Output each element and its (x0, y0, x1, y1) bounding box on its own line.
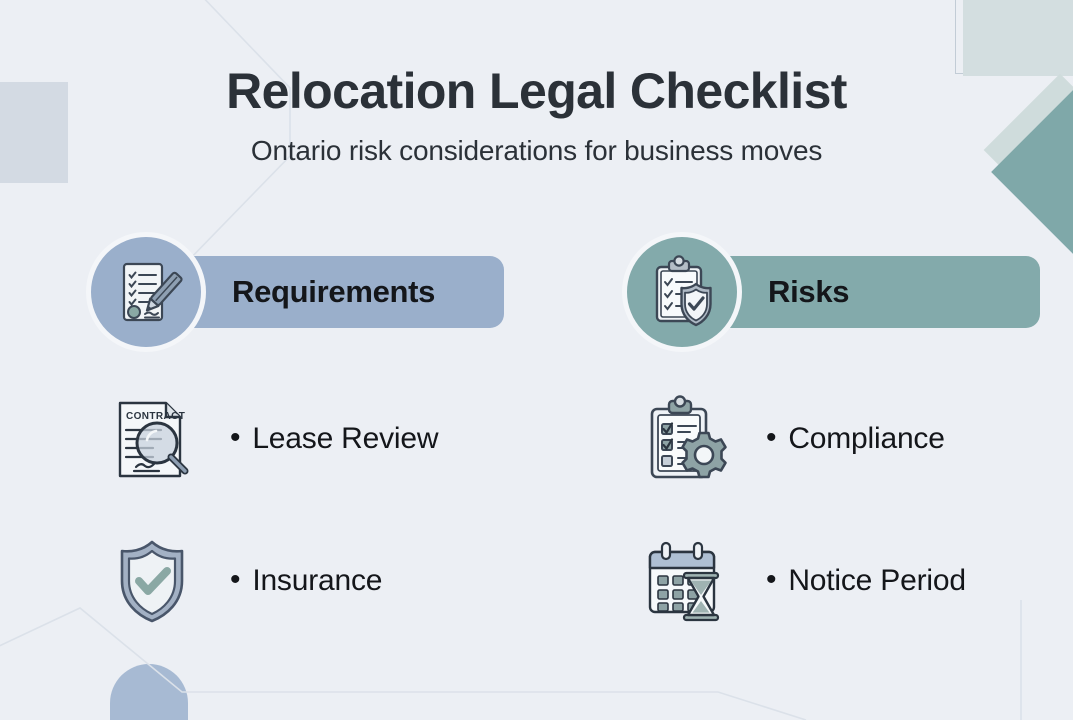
calendar-hourglass-icon (640, 533, 736, 629)
bullet-icon: • (766, 423, 776, 453)
items-requirements: CONTRACT (0, 368, 536, 652)
column-risks: Risks (536, 232, 1072, 652)
bullet-icon: • (230, 565, 240, 595)
list-item[interactable]: CONTRACT (0, 368, 536, 510)
page-header: Relocation Legal Checklist Ontario risk … (0, 62, 1073, 167)
items-risks: •Compliance (536, 368, 1072, 652)
list-item-label: Insurance (252, 564, 382, 597)
shield-check-icon (104, 533, 200, 629)
column-requirements: Requirements (0, 232, 536, 652)
category-label-risks: Risks (768, 274, 849, 310)
decorative-arch-bottom (110, 664, 188, 720)
clipboard-gear-icon (640, 391, 736, 487)
category-label-requirements: Requirements (232, 274, 435, 310)
bullet-icon: • (766, 565, 776, 595)
page-title: Relocation Legal Checklist (0, 62, 1073, 121)
list-item-text: •Compliance (766, 422, 945, 456)
bullet-icon: • (230, 423, 240, 453)
list-item-label: Compliance (788, 422, 944, 455)
list-item[interactable]: •Insurance (0, 510, 536, 652)
list-item[interactable]: •Compliance (536, 368, 1072, 510)
contract-label: CONTRACT (126, 411, 185, 422)
checklist-pencil-icon (86, 232, 206, 352)
clipboard-shield-icon (622, 232, 742, 352)
list-item-text: •Notice Period (766, 564, 966, 598)
list-item-label: Lease Review (252, 422, 438, 455)
contract-magnifier-icon: CONTRACT (104, 391, 200, 487)
page-subtitle: Ontario risk considerations for business… (0, 135, 1073, 167)
category-header-risks[interactable]: Risks (536, 232, 1072, 352)
list-item-label: Notice Period (788, 564, 966, 597)
list-item-text: •Insurance (230, 564, 382, 598)
list-item[interactable]: •Notice Period (536, 510, 1072, 652)
checklist-columns: Requirements (0, 232, 1073, 652)
list-item-text: •Lease Review (230, 422, 438, 456)
category-header-requirements[interactable]: Requirements (0, 232, 536, 352)
